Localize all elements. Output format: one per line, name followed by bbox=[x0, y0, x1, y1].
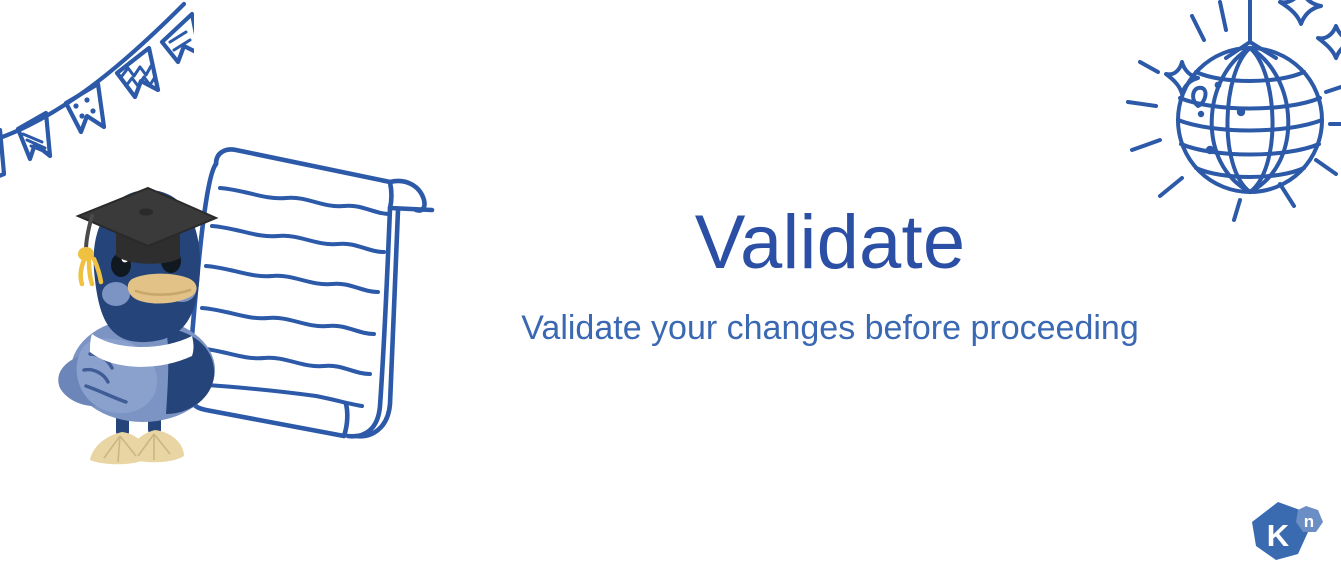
brand-logo: K n bbox=[1248, 500, 1326, 568]
mascot-head bbox=[94, 190, 201, 342]
mascot-body bbox=[58, 318, 215, 422]
logo-badge-letter: n bbox=[1304, 512, 1314, 531]
disco-ball-decoration bbox=[1118, 0, 1341, 228]
graduation-cap-icon bbox=[78, 188, 216, 284]
page-title: Validate bbox=[470, 200, 1190, 285]
slide-canvas: Validate Validate your changes before pr… bbox=[0, 0, 1341, 585]
mascot-legs bbox=[90, 400, 184, 464]
paper-scroll-decoration bbox=[176, 138, 468, 454]
party-bunting-decoration bbox=[0, 0, 194, 178]
graduate-bird-mascot bbox=[56, 184, 236, 474]
page-subtitle: Validate your changes before proceeding bbox=[470, 307, 1190, 350]
logo-mark-letter: K bbox=[1267, 518, 1290, 553]
slide-text-block: Validate Validate your changes before pr… bbox=[470, 200, 1190, 350]
mascot-collar bbox=[90, 334, 194, 367]
